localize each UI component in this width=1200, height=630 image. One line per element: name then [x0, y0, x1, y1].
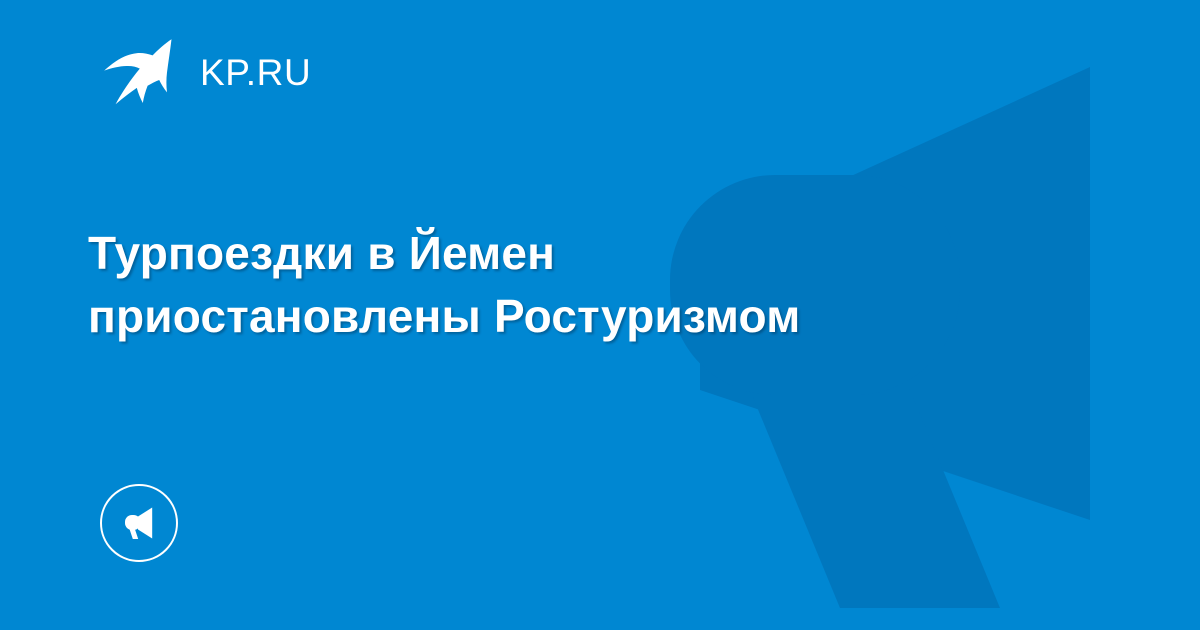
megaphone-icon — [119, 503, 159, 543]
share-card: KP.RU Турпоездки в Йемен приостановлены … — [0, 0, 1200, 630]
megaphone-badge[interactable] — [100, 484, 178, 562]
page-title-line-2: приостановлены Ростуризмом — [88, 285, 1028, 348]
swallow-bird-icon — [103, 36, 177, 108]
brand-name: KP.RU — [200, 54, 311, 91]
brand-logo[interactable]: KP.RU — [103, 36, 311, 108]
page-title: Турпоездки в Йемен приостановлены Ростур… — [88, 222, 1028, 348]
page-title-line-1: Турпоездки в Йемен — [88, 222, 1028, 285]
